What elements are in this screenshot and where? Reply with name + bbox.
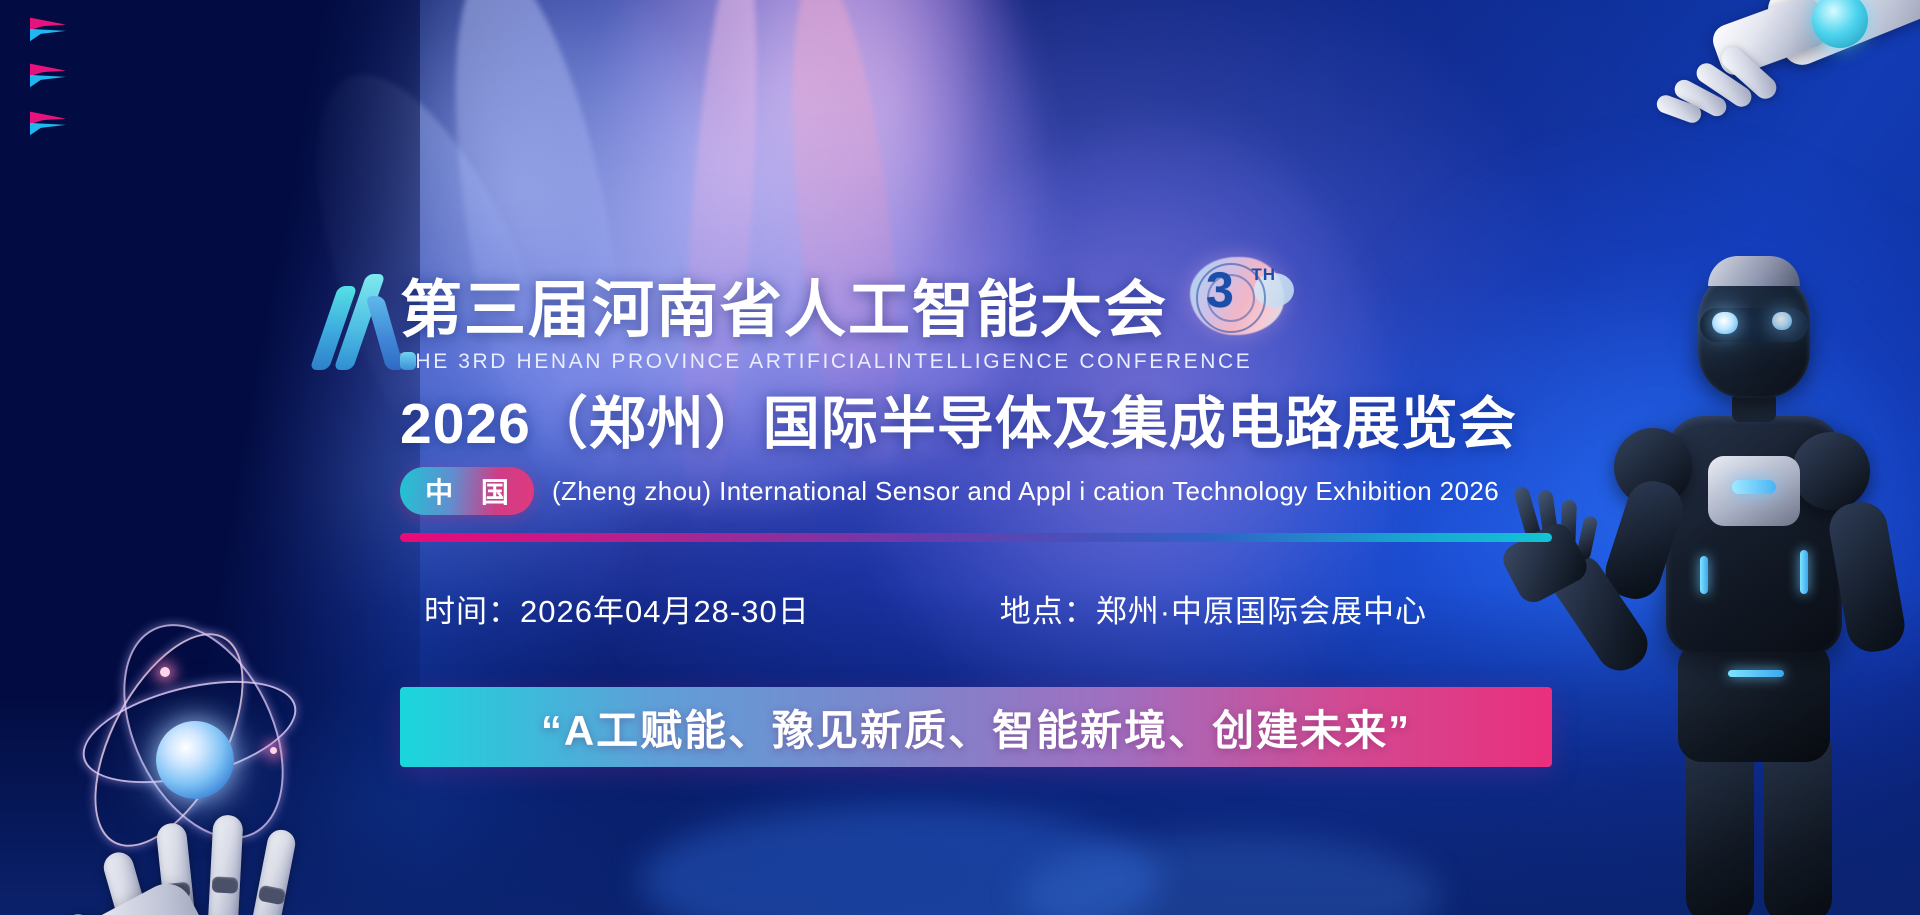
conference-banner: 第三届河南省人工智能大会 3 TH THE 3RD HENAN PROVINCE…: [0, 0, 1920, 915]
gradient-divider: [400, 533, 1552, 542]
edition-badge-suffix: TH: [1251, 265, 1276, 285]
slogan-text: “A工赋能、豫见新质、智能新境、创建未来”: [541, 697, 1411, 758]
country-pill: 中 国: [400, 467, 534, 515]
event-meta-row: 时间：2026年04月28-30日 地点：郑州·中原国际会展中心: [400, 586, 1600, 631]
event-time: 时间：2026年04月28-30日: [424, 586, 810, 631]
edition-badge: 3 TH: [1190, 257, 1284, 335]
exhibition-title-en: (Zheng zhou) International Sensor and Ap…: [552, 476, 1499, 507]
chevron-arrow-icon: [30, 110, 66, 138]
robot-hand-atom-icon: [60, 595, 380, 915]
edition-badge-number: 3: [1206, 265, 1234, 315]
ai-monogram-icon: [316, 272, 420, 376]
conference-title-row: 第三届河南省人工智能大会 3 TH: [400, 250, 1600, 342]
event-place: 地点：郑州·中原国际会展中心: [1000, 586, 1427, 631]
conference-title-en: THE 3RD HENAN PROVINCE ARTIFICIALINTELLI…: [400, 350, 1600, 374]
exhibition-subtitle-row: 中 国 (Zheng zhou) International Sensor an…: [400, 467, 1600, 515]
robot-arm-icon: [1630, 0, 1920, 176]
exhibition-title-cn: 2026（郑州）国际半导体及集成电路展览会: [400, 396, 1600, 453]
banner-content: 第三届河南省人工智能大会 3 TH THE 3RD HENAN PROVINCE…: [400, 250, 1600, 767]
chevron-arrow-icon: [26, 10, 86, 150]
chevron-arrow-icon: [30, 62, 66, 90]
chevron-arrow-icon: [30, 16, 66, 44]
conference-title-cn: 第三届河南省人工智能大会: [400, 280, 1168, 342]
slogan-banner: “A工赋能、豫见新质、智能新境、创建未来”: [400, 687, 1552, 767]
